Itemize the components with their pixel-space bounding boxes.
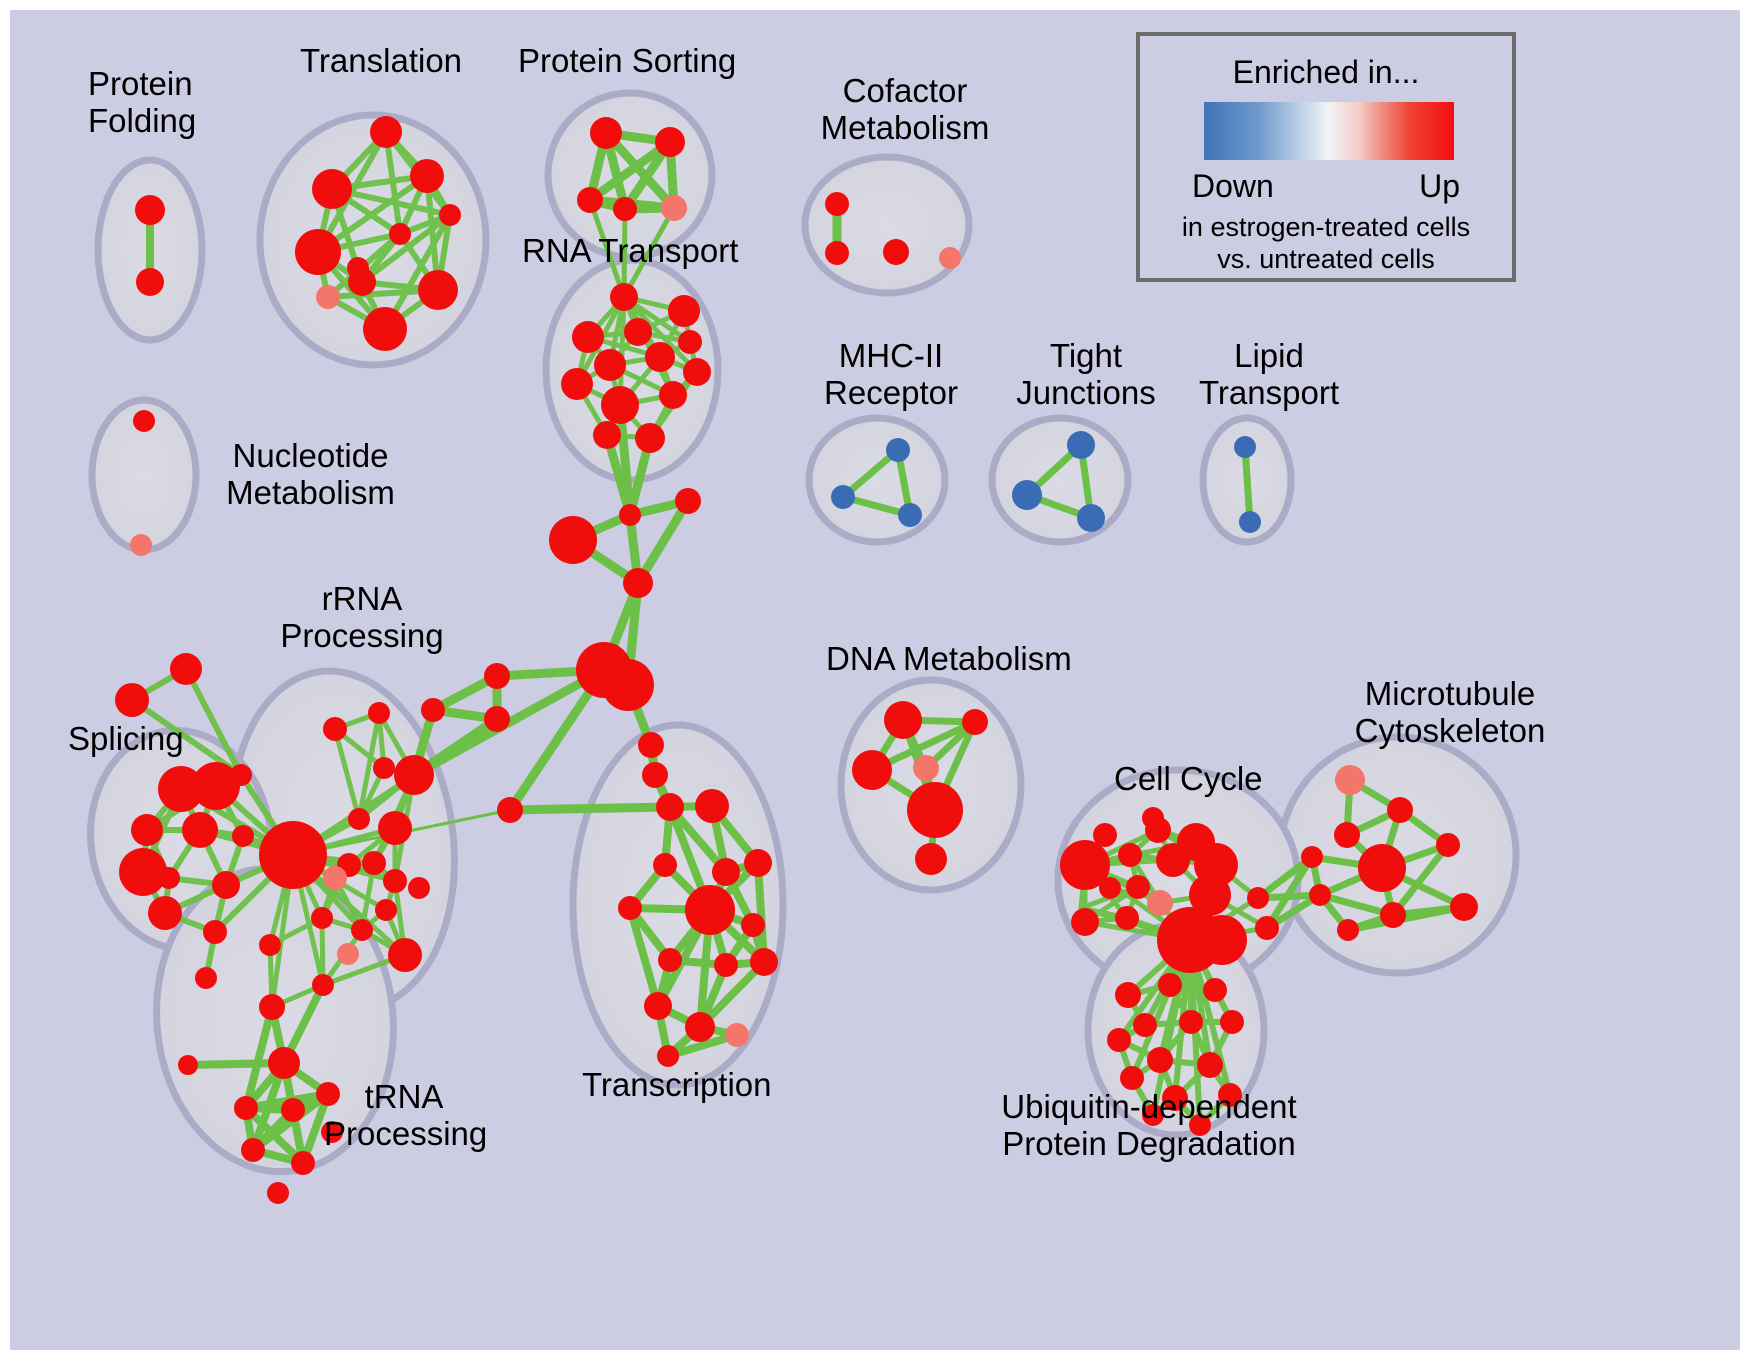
node	[657, 1045, 679, 1067]
node	[1247, 887, 1269, 909]
node	[311, 907, 333, 929]
node	[115, 683, 149, 717]
node	[259, 821, 327, 889]
node	[1158, 973, 1182, 997]
node	[182, 812, 218, 848]
node	[1133, 1013, 1157, 1037]
node	[1118, 843, 1142, 867]
node	[375, 899, 397, 921]
node	[678, 330, 702, 354]
node	[661, 195, 687, 221]
node	[439, 204, 461, 226]
node	[939, 247, 961, 269]
node	[594, 349, 626, 381]
node	[351, 919, 373, 941]
node	[135, 195, 165, 225]
network-canvas: Protein Folding Translation Protein Sort…	[10, 10, 1740, 1350]
node	[1189, 1114, 1211, 1136]
legend-color-bar	[1204, 102, 1454, 160]
legend-box: Enriched in... Down Up in estrogen-treat…	[1136, 32, 1516, 282]
node	[1337, 919, 1359, 941]
node	[1255, 916, 1279, 940]
node	[394, 755, 434, 795]
node	[373, 757, 395, 779]
node	[1147, 1047, 1173, 1073]
node	[644, 992, 672, 1020]
node	[370, 116, 402, 148]
node	[1093, 823, 1117, 847]
node	[1197, 1052, 1223, 1078]
node	[685, 885, 735, 935]
blob-tight-junctions	[992, 418, 1128, 542]
node	[312, 169, 352, 209]
node	[408, 877, 430, 899]
node	[695, 789, 729, 823]
node	[1142, 1104, 1164, 1126]
node	[1380, 902, 1406, 928]
node	[656, 793, 684, 821]
node	[316, 1082, 340, 1106]
node	[645, 342, 675, 372]
node	[323, 866, 347, 890]
node	[241, 1138, 265, 1162]
legend-title: Enriched in...	[1140, 54, 1512, 91]
node	[658, 948, 682, 972]
node	[362, 851, 386, 875]
node	[572, 321, 604, 353]
node	[178, 1055, 198, 1075]
node	[383, 869, 407, 893]
node	[685, 1012, 715, 1042]
node	[1077, 504, 1105, 532]
node	[131, 814, 163, 846]
node	[259, 934, 281, 956]
node	[1071, 908, 1099, 936]
node	[348, 808, 370, 830]
node	[635, 423, 665, 453]
node	[962, 709, 988, 735]
node	[1234, 436, 1256, 458]
node	[655, 127, 685, 157]
legend-low-label: Down	[1192, 168, 1274, 205]
node	[1335, 765, 1365, 795]
node	[410, 159, 444, 193]
node	[158, 867, 180, 889]
node	[337, 943, 359, 965]
node	[642, 762, 668, 788]
node	[915, 843, 947, 875]
node	[883, 239, 909, 265]
node	[1115, 906, 1139, 930]
node	[347, 257, 369, 279]
node	[602, 659, 654, 711]
node	[913, 755, 939, 781]
node	[653, 853, 677, 877]
node	[133, 410, 155, 432]
node	[136, 268, 164, 296]
node	[1107, 1028, 1131, 1052]
node	[363, 307, 407, 351]
node	[1179, 1010, 1203, 1034]
node	[741, 913, 765, 937]
node	[130, 534, 152, 556]
node	[268, 1047, 300, 1079]
node	[613, 197, 637, 221]
node	[389, 223, 411, 245]
node	[1147, 890, 1173, 916]
node	[549, 516, 597, 564]
node	[1203, 978, 1227, 1002]
node	[368, 702, 390, 724]
node	[624, 318, 652, 346]
node	[291, 1151, 315, 1175]
node	[907, 782, 963, 838]
node	[561, 368, 593, 400]
node	[619, 504, 641, 526]
node	[1387, 797, 1413, 823]
node	[388, 938, 422, 972]
node	[618, 896, 642, 920]
node	[295, 229, 341, 275]
node	[1334, 822, 1360, 848]
node	[312, 974, 334, 996]
node	[831, 485, 855, 509]
node	[683, 358, 711, 386]
node	[577, 187, 603, 213]
node	[281, 1098, 305, 1122]
node	[1012, 480, 1042, 510]
node	[714, 953, 738, 977]
node	[593, 421, 621, 449]
node	[825, 241, 849, 265]
node	[623, 568, 653, 598]
node	[675, 488, 701, 514]
node	[744, 849, 772, 877]
node	[610, 283, 638, 311]
node	[1436, 833, 1460, 857]
node	[421, 698, 445, 722]
node	[601, 386, 639, 424]
node	[1239, 511, 1261, 533]
node	[321, 1121, 343, 1143]
node	[590, 117, 622, 149]
node	[1120, 1066, 1144, 1090]
node	[886, 438, 910, 462]
node	[148, 896, 182, 930]
node	[170, 653, 202, 685]
blob-cofactor	[805, 157, 969, 293]
node	[316, 285, 340, 309]
node	[484, 663, 510, 689]
node	[852, 750, 892, 790]
node	[1126, 875, 1150, 899]
node	[1301, 846, 1323, 868]
node	[1220, 1010, 1244, 1034]
node	[259, 994, 285, 1020]
node	[1067, 431, 1095, 459]
node	[712, 858, 740, 886]
node	[203, 920, 227, 944]
legend-subtitle-2: vs. untreated cells	[1140, 244, 1512, 275]
node	[1115, 982, 1141, 1008]
node	[1450, 893, 1478, 921]
node	[1099, 877, 1121, 899]
node	[668, 295, 700, 327]
node	[1358, 844, 1406, 892]
node	[378, 811, 412, 845]
node	[195, 967, 217, 989]
node	[192, 762, 240, 810]
blob-mhc	[809, 418, 945, 542]
node	[638, 732, 664, 758]
legend-subtitle-1: in estrogen-treated cells	[1140, 212, 1512, 243]
node	[1162, 1085, 1188, 1111]
blob-transcription	[573, 725, 783, 1085]
node	[497, 797, 523, 823]
figure-page: Protein Folding Translation Protein Sort…	[0, 0, 1750, 1360]
node	[418, 270, 458, 310]
node	[725, 1023, 749, 1047]
node	[234, 1096, 258, 1120]
node	[1309, 884, 1331, 906]
legend-high-label: Up	[1419, 168, 1460, 205]
node	[1218, 1083, 1242, 1107]
node	[267, 1182, 289, 1204]
node	[825, 192, 849, 216]
node	[898, 503, 922, 527]
node	[884, 701, 922, 739]
node	[659, 381, 687, 409]
node	[1142, 807, 1164, 829]
node	[484, 706, 510, 732]
node	[232, 825, 254, 847]
node	[1197, 915, 1247, 965]
node	[750, 948, 778, 976]
node	[323, 717, 347, 741]
node	[212, 871, 240, 899]
